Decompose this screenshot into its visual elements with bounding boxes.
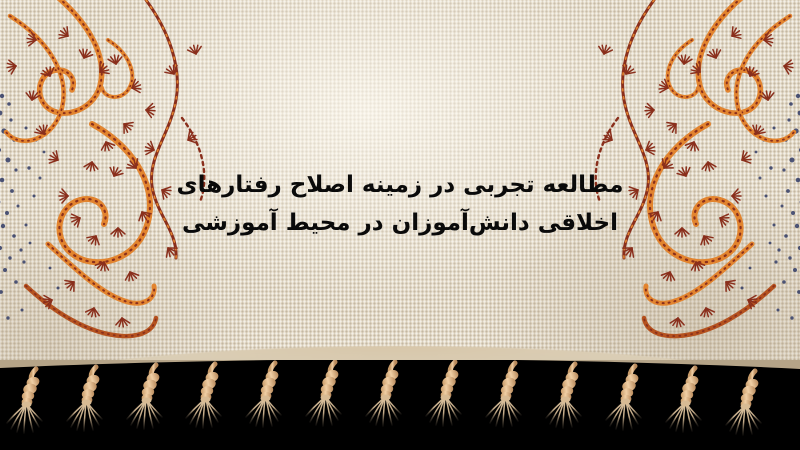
title-line-2: اخلاقی دانش‌آموزان در محیط آموزشی bbox=[0, 204, 800, 242]
tassel-row bbox=[0, 360, 800, 450]
tassel-fringe bbox=[0, 360, 800, 450]
title-line-1: مطالعه تجربی در زمینه اصلاح رفتارهای bbox=[0, 166, 800, 204]
tassels bbox=[7, 362, 761, 435]
slide-title: مطالعه تجربی در زمینه اصلاح رفتارهای اخل… bbox=[0, 166, 800, 242]
slide-canvas: مطالعه تجربی در زمینه اصلاح رفتارهای اخل… bbox=[0, 0, 800, 450]
